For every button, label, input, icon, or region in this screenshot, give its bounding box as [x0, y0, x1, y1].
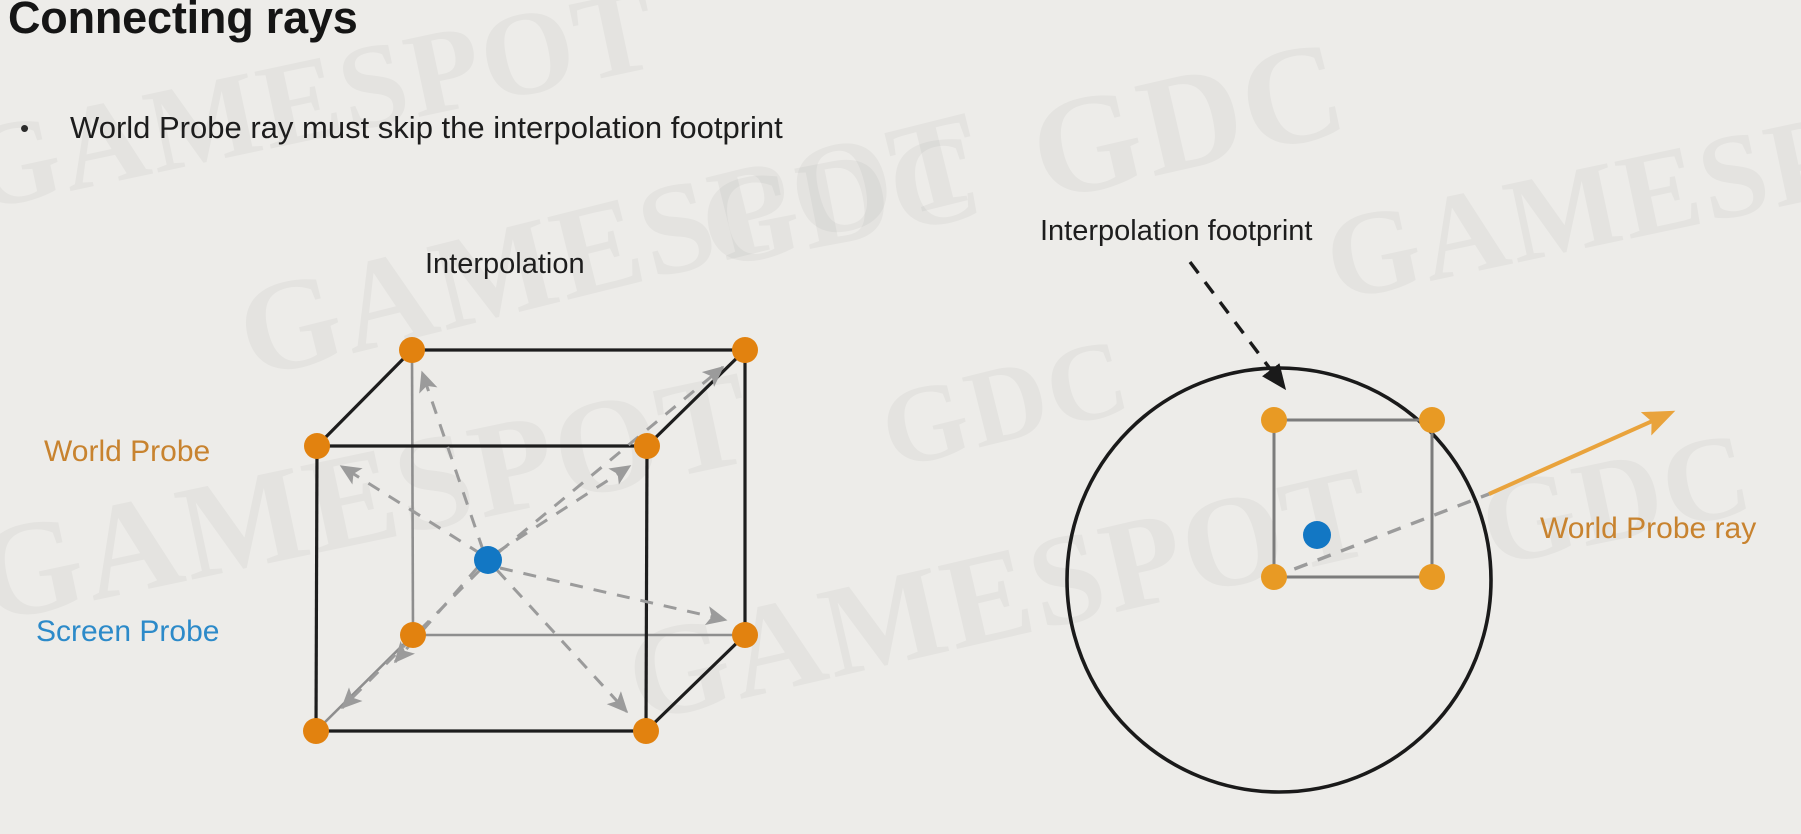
world-probe-ray-label: World Probe ray — [1540, 512, 1756, 546]
world-probe-dot — [732, 622, 758, 648]
ray-to-back-top-right — [499, 367, 723, 552]
watermark-text: GAMESPOT — [613, 436, 1387, 753]
footprint-dashed-ray — [1271, 494, 1489, 578]
bullet-list: • World Probe ray must skip the interpol… — [14, 108, 783, 148]
world-probe-dot — [303, 718, 329, 744]
world-probe-dot — [732, 337, 758, 363]
interpolation-cube-figure — [303, 337, 758, 744]
cube-back-edges — [316, 350, 745, 731]
world-probe-dot — [1419, 407, 1445, 433]
watermark-text: GDC — [868, 312, 1142, 496]
interpolation-footprint-annotation: Interpolation footprint — [1040, 215, 1312, 248]
ray-to-back-bot-right — [500, 568, 726, 620]
cube-front-edges — [316, 350, 745, 731]
legend-label-screen-probe: Screen Probe — [36, 615, 219, 649]
cube-world-probe-dots — [303, 337, 758, 744]
world-probe-dot — [1261, 407, 1287, 433]
bullet-item-text: World Probe ray must skip the interpolat… — [70, 108, 783, 148]
bullet-marker-icon: • — [14, 108, 70, 148]
world-probe-dot — [399, 337, 425, 363]
slide-canvas: GAMESPOT GAMESPOT GDC GDC GAMESPOT GAMES… — [0, 0, 1801, 834]
interpolation-caption: Interpolation — [425, 248, 585, 281]
world-probe-dot — [634, 433, 660, 459]
ray-to-front-bot-left — [342, 570, 480, 708]
ray-to-front-top-right — [496, 466, 630, 553]
slide-title: Connecting rays — [8, 0, 358, 44]
ray-to-front-bot-right — [497, 570, 627, 712]
footprint-annotation-arrow — [1190, 262, 1283, 386]
ray-to-back-top-left — [422, 372, 483, 550]
footprint-world-probe-dots — [1261, 407, 1445, 590]
watermark-text: GAMESPOT — [1313, 48, 1801, 329]
watermark-text: GDC — [1016, 6, 1361, 234]
cube-interpolation-rays — [341, 367, 726, 712]
watermark-text: GDC — [1469, 403, 1764, 595]
ray-to-front-top-left — [341, 466, 481, 554]
legend-label-world-probe: World Probe — [44, 435, 210, 469]
footprint-square — [1274, 420, 1432, 577]
world-probe-dot — [1261, 564, 1287, 590]
probe-influence-circle — [1067, 368, 1491, 792]
world-probe-dot — [633, 718, 659, 744]
screen-probe-dot — [474, 546, 502, 574]
screen-probe-dot — [1303, 521, 1331, 549]
ray-to-back-bot-left — [395, 567, 478, 662]
world-probe-dot — [304, 433, 330, 459]
world-probe-ray-arrow — [1489, 414, 1668, 494]
world-probe-dot — [400, 622, 426, 648]
watermark-text: GAMESPOT — [0, 340, 766, 656]
world-probe-dot — [1419, 564, 1445, 590]
